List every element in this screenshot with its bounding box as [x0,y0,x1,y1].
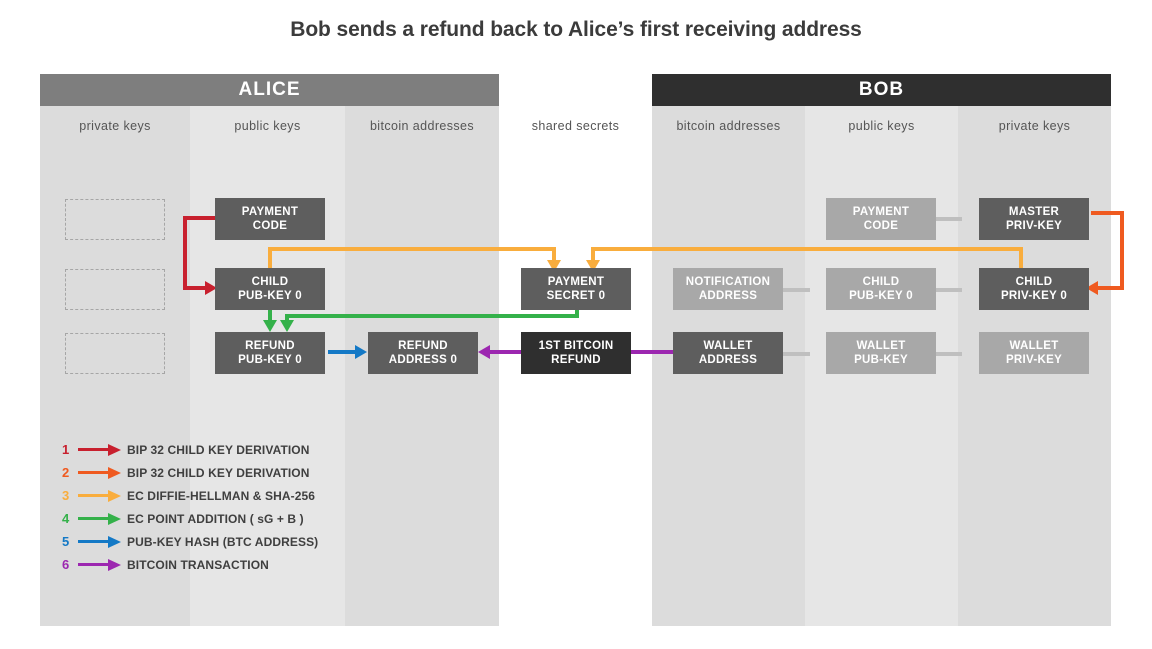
box-alice-refund-pubkey[interactable]: REFUND PUB-KEY 0 [215,332,325,374]
legend-arrow-3-icon [78,489,122,503]
box-alice-refund-address-line2: ADDRESS 0 [389,353,458,367]
flow-amber-right-horizontal [591,247,1023,251]
alice-label-bitcoin-addresses: bitcoin addresses [345,119,499,133]
flow-red-segment-vertical [183,216,187,290]
legend-row-5: 5 PUB-KEY HASH (BTC ADDRESS) [62,530,318,553]
box-payment-secret-line1: PAYMENT [548,275,604,289]
bob-label-bitcoin-addresses: bitcoin addresses [652,119,805,133]
box-bob-master-privkey-line2: PRIV-KEY [1006,219,1062,233]
box-alice-payment-code[interactable]: PAYMENT CODE [215,198,325,240]
alice-label-public-keys: public keys [190,119,345,133]
box-alice-payment-code-line2: CODE [253,219,287,233]
flow-red-segment-horizontal-top [183,216,219,220]
flow-amber-left-horizontal [268,247,556,251]
box-first-bitcoin-refund[interactable]: 1ST BITCOIN REFUND [521,332,631,374]
box-bob-payment-code[interactable]: PAYMENT CODE [826,198,936,240]
box-bob-wallet-address-line2: ADDRESS [699,353,757,367]
legend-label-3: EC DIFFIE-HELLMAN & SHA-256 [127,489,315,503]
box-bob-child-pubkey-line2: PUB-KEY 0 [849,289,913,303]
legend-row-6: 6 BITCOIN TRANSACTION [62,553,318,576]
legend-row-1: 1 BIP 32 CHILD KEY DERIVATION [62,438,318,461]
link-bob-wallet-pubkey-wallet-privkey [932,352,962,356]
legend-number-3: 3 [62,488,76,503]
bob-label-private-keys: private keys [958,119,1111,133]
box-bob-master-privkey-line1: MASTER [1009,205,1059,219]
flow-green-b-horizontal [285,314,579,318]
flow-blue-arrowhead [355,345,367,359]
flow-orange-segment-horizontal-bottom [1098,286,1124,290]
box-alice-refund-pubkey-line1: REFUND [245,339,295,353]
box-bob-notification-address-line1: NOTIFICATION [686,275,771,289]
bob-header-label: BOB [859,79,904,100]
alice-header: ALICE [40,74,499,106]
box-first-bitcoin-refund-line1: 1ST BITCOIN [539,339,614,353]
shared-label-secrets: shared secrets [499,119,652,133]
alice-private-key-placeholder-1 [65,199,165,240]
box-alice-refund-address[interactable]: REFUND ADDRESS 0 [368,332,478,374]
box-alice-refund-pubkey-line2: PUB-KEY 0 [238,353,302,367]
box-payment-secret[interactable]: PAYMENT SECRET 0 [521,268,631,310]
legend-row-4: 4 EC POINT ADDITION ( sG + B ) [62,507,318,530]
box-bob-wallet-pubkey-line1: WALLET [856,339,905,353]
box-bob-child-privkey[interactable]: CHILD PRIV-KEY 0 [979,268,1089,310]
box-bob-notification-address-line2: ADDRESS [699,289,757,303]
box-bob-child-privkey-line1: CHILD [1016,275,1053,289]
legend-arrow-5-icon [78,535,122,549]
legend-row-3: 3 EC DIFFIE-HELLMAN & SHA-256 [62,484,318,507]
legend-number-1: 1 [62,442,76,457]
legend-label-4: EC POINT ADDITION ( sG + B ) [127,512,304,526]
box-bob-payment-code-line2: CODE [864,219,898,233]
legend-arrow-6-icon [78,558,122,572]
flow-orange-segment-vertical [1120,211,1124,290]
box-alice-payment-code-line1: PAYMENT [242,205,298,219]
alice-private-key-placeholder-3 [65,333,165,374]
link-bob-wallet-address-wallet-pubkey [779,352,810,356]
legend-arrow-4-icon [78,512,122,526]
legend-label-2: BIP 32 CHILD KEY DERIVATION [127,466,310,480]
box-bob-notification-address[interactable]: NOTIFICATION ADDRESS [673,268,783,310]
legend-label-6: BITCOIN TRANSACTION [127,558,269,572]
box-bob-child-pubkey[interactable]: CHILD PUB-KEY 0 [826,268,936,310]
legend-number-4: 4 [62,511,76,526]
alice-header-label: ALICE [239,79,301,100]
legend-number-6: 6 [62,557,76,572]
bob-header: BOB [652,74,1111,106]
legend-number-2: 2 [62,465,76,480]
flow-green-a-arrowhead [263,320,277,332]
alice-label-private-keys: private keys [40,119,190,133]
legend: 1 BIP 32 CHILD KEY DERIVATION 2 BIP 32 C… [62,438,318,576]
diagram-canvas: Bob sends a refund back to Alice’s first… [0,0,1152,649]
legend-arrow-1-icon [78,443,122,457]
flow-green-b-arrowhead [280,320,294,332]
legend-row-2: 2 BIP 32 CHILD KEY DERIVATION [62,461,318,484]
box-alice-refund-address-line1: REFUND [398,339,448,353]
box-bob-wallet-address[interactable]: WALLET ADDRESS [673,332,783,374]
box-bob-wallet-privkey-line1: WALLET [1009,339,1058,353]
flow-purple-arrowhead [478,345,490,359]
flow-blue-horizontal [328,350,358,354]
box-alice-child-pubkey-line1: CHILD [252,275,289,289]
box-bob-child-privkey-line2: PRIV-KEY 0 [1001,289,1067,303]
box-bob-wallet-pubkey-line2: PUB-KEY [854,353,908,367]
box-bob-wallet-privkey[interactable]: WALLET PRIV-KEY [979,332,1089,374]
page-title: Bob sends a refund back to Alice’s first… [0,18,1152,42]
box-bob-wallet-privkey-line2: PRIV-KEY [1006,353,1062,367]
flow-purple-right-horizontal [628,350,678,354]
bob-label-public-keys: public keys [805,119,958,133]
link-bob-payment-code-master-privkey [932,217,962,221]
box-bob-payment-code-line1: PAYMENT [853,205,909,219]
box-alice-child-pubkey-line2: PUB-KEY 0 [238,289,302,303]
box-first-bitcoin-refund-line2: REFUND [551,353,601,367]
alice-private-key-placeholder-2 [65,269,165,310]
link-bob-child-pubkey-child-privkey [932,288,962,292]
link-bob-notification-child-pubkey [779,288,810,292]
box-alice-child-pubkey[interactable]: CHILD PUB-KEY 0 [215,268,325,310]
box-bob-master-privkey[interactable]: MASTER PRIV-KEY [979,198,1089,240]
box-bob-child-pubkey-line1: CHILD [863,275,900,289]
legend-number-5: 5 [62,534,76,549]
box-bob-wallet-address-line1: WALLET [703,339,752,353]
legend-label-1: BIP 32 CHILD KEY DERIVATION [127,443,310,457]
legend-arrow-2-icon [78,466,122,480]
box-bob-wallet-pubkey[interactable]: WALLET PUB-KEY [826,332,936,374]
legend-label-5: PUB-KEY HASH (BTC ADDRESS) [127,535,318,549]
box-payment-secret-line2: SECRET 0 [547,289,606,303]
